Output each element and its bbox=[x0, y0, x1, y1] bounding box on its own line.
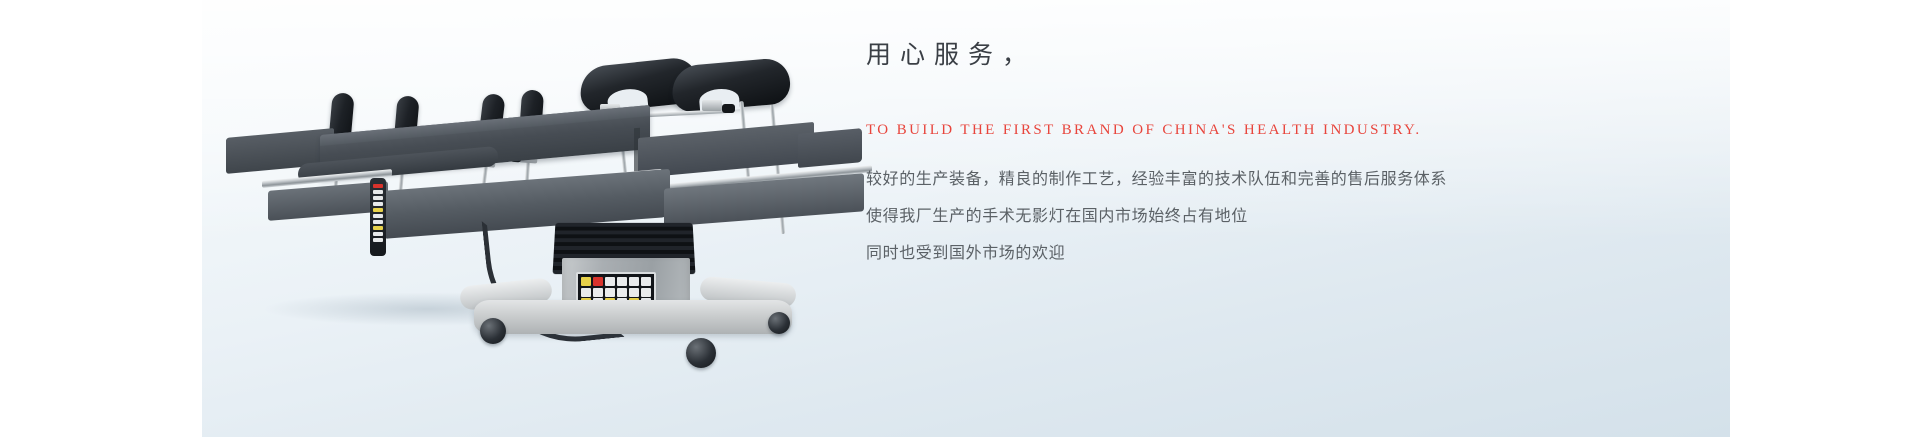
body-line-3: 同时也受到国外市场的欢迎 bbox=[866, 235, 1666, 272]
stirrup-joint bbox=[702, 100, 722, 111]
caster-wheel bbox=[480, 318, 506, 344]
banner-page: 用心服务， TO BUILD THE FIRST BRAND OF CHINA'… bbox=[0, 0, 1920, 437]
caster-wheel bbox=[768, 312, 790, 334]
banner-body: 较好的生产装备，精良的制作工艺，经验丰富的技术队伍和完善的售后服务体系 使得我厂… bbox=[866, 161, 1666, 272]
banner-tagline: TO BUILD THE FIRST BRAND OF CHINA'S HEAL… bbox=[866, 122, 1666, 139]
promo-banner: 用心服务， TO BUILD THE FIRST BRAND OF CHINA'… bbox=[202, 0, 1730, 437]
body-line-1: 较好的生产装备，精良的制作工艺，经验丰富的技术队伍和完善的售后服务体系 bbox=[866, 161, 1666, 198]
table-foot-section bbox=[798, 128, 862, 168]
body-line-2: 使得我厂生产的手术无影灯在国内市场始终占有地位 bbox=[866, 198, 1666, 235]
caster-wheel bbox=[686, 338, 716, 368]
adjust-knob bbox=[722, 104, 735, 113]
wheeled-base bbox=[474, 300, 792, 334]
banner-copy: 用心服务， TO BUILD THE FIRST BRAND OF CHINA'… bbox=[866, 40, 1666, 272]
handheld-remote bbox=[370, 178, 386, 256]
banner-headline: 用心服务， bbox=[866, 40, 1666, 70]
operating-table-image bbox=[202, 0, 882, 437]
